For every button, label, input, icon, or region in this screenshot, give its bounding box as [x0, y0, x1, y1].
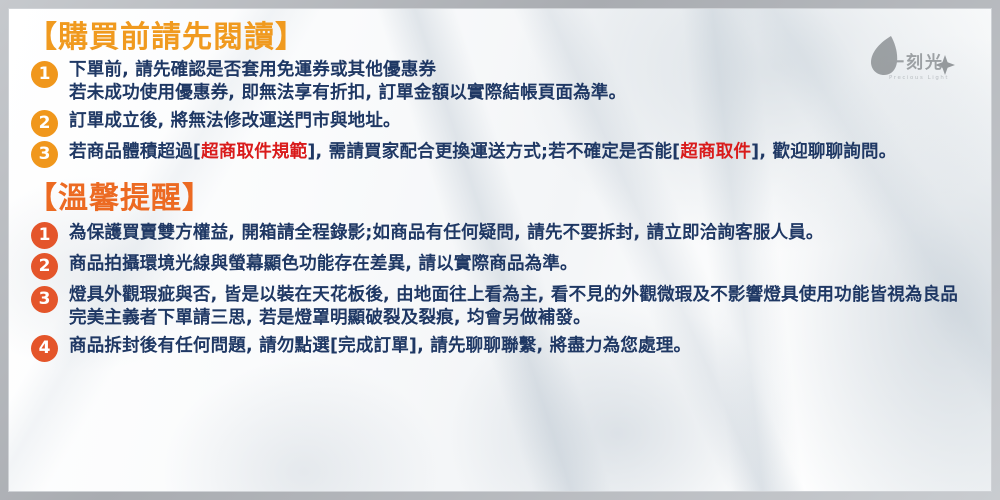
- item-number-badge: 2: [31, 110, 58, 137]
- brand-logo: 一刻光 Precious Light: [857, 29, 969, 91]
- text-segment: ], 需請買家配合更換運送方式;若不確定是否能[: [307, 142, 680, 162]
- list-item: 2商品拍攝環境光線與螢幕顯色功能存在差異, 請以實際商品為準。: [9, 253, 991, 280]
- text-segment: 完美主義者下單請三思, 若是燈罩明顯破裂及裂痕, 均會另做補發。: [69, 308, 591, 328]
- item-number-badge: 3: [31, 286, 58, 313]
- text-segment: 若未成功使用優惠券, 即無法享有折扣, 訂單金額以實際結帳頁面為準。: [69, 83, 626, 103]
- text-segment: ], 歡迎聊聊詢問。: [751, 142, 896, 162]
- list-item: 3燈具外觀瑕疵與否, 皆是以裝在天花板後, 由地面往上看為主, 看不見的外觀微瑕…: [9, 284, 991, 330]
- item-text-block: 商品拆封後有任何問題, 請勿點選[完成訂單], 請先聊聊聯繫, 將盡力為您處理。: [69, 335, 991, 358]
- item-text-block: 訂單成立後, 將無法修改運送門市與地址。: [69, 110, 991, 133]
- text-segment: 下單前, 請先確認是否套用免運券或其他優惠券: [69, 60, 436, 80]
- notice-content: 【購買前請先閱讀】1下單前, 請先確認是否套用免運券或其他優惠券若未成功使用優惠…: [9, 9, 991, 362]
- item-text-block: 商品拍攝環境光線與螢幕顯色功能存在差異, 請以實際商品為準。: [69, 253, 991, 276]
- list-item: 1下單前, 請先確認是否套用免運券或其他優惠券若未成功使用優惠券, 即無法享有折…: [9, 59, 991, 105]
- item-number-badge: 3: [31, 141, 58, 168]
- text-segment: 訂單成立後, 將無法修改運送門市與地址。: [69, 111, 401, 131]
- list-item: 3若商品體積超過[超商取件規範], 需請買家配合更換運送方式;若不確定是否能[超…: [9, 141, 991, 168]
- item-number-badge: 1: [31, 61, 58, 88]
- section-heading-before-purchase: 【購買前請先閱讀】: [27, 23, 991, 53]
- item-text-block: 燈具外觀瑕疵與否, 皆是以裝在天花板後, 由地面往上看為主, 看不見的外觀微瑕及…: [69, 284, 991, 330]
- highlighted-term: 超商取件: [680, 142, 751, 162]
- text-segment: 商品拆封後有任何問題, 請勿點選[完成訂單], 請先聊聊聯繫, 將盡力為您處理。: [69, 336, 691, 356]
- text-segment: 若商品體積超過[: [69, 142, 201, 162]
- item-text-line: 完美主義者下單請三思, 若是燈罩明顯破裂及裂痕, 均會另做補發。: [69, 307, 991, 330]
- image-frame: 一刻光 Precious Light 【購買前請先閱讀】1下單前, 請先確認是否…: [0, 0, 1000, 500]
- item-number-badge: 2: [31, 253, 58, 280]
- list-item: 2訂單成立後, 將無法修改運送門市與地址。: [9, 110, 991, 137]
- list-item: 1為保護買賣雙方權益, 開箱請全程錄影;如商品有任何疑問, 請先不要拆封, 請立…: [9, 222, 991, 249]
- item-text-line: 商品拍攝環境光線與螢幕顯色功能存在差異, 請以實際商品為準。: [69, 253, 991, 276]
- item-text-block: 為保護買賣雙方權益, 開箱請全程錄影;如商品有任何疑問, 請先不要拆封, 請立即…: [69, 222, 991, 245]
- item-text-line: 燈具外觀瑕疵與否, 皆是以裝在天花板後, 由地面往上看為主, 看不見的外觀微瑕及…: [69, 284, 991, 307]
- brand-name-zh: 一刻光: [887, 55, 944, 72]
- item-text-line: 為保護買賣雙方權益, 開箱請全程錄影;如商品有任何疑問, 請先不要拆封, 請立即…: [69, 222, 991, 245]
- highlighted-term: 超商取件規範: [201, 142, 307, 162]
- brand-name-en: Precious Light: [889, 76, 949, 81]
- item-text-line: 商品拆封後有任何問題, 請勿點選[完成訂單], 請先聊聊聯繫, 將盡力為您處理。: [69, 335, 991, 358]
- notice-canvas: 一刻光 Precious Light 【購買前請先閱讀】1下單前, 請先確認是否…: [8, 8, 992, 492]
- text-segment: 商品拍攝環境光線與螢幕顯色功能存在差異, 請以實際商品為準。: [69, 254, 578, 274]
- item-number-badge: 1: [31, 222, 58, 249]
- item-text-line: 下單前, 請先確認是否套用免運券或其他優惠券: [69, 59, 991, 82]
- text-segment: 燈具外觀瑕疵與否, 皆是以裝在天花板後, 由地面往上看為主, 看不見的外觀微瑕及…: [69, 285, 958, 305]
- item-text-block: 下單前, 請先確認是否套用免運券或其他優惠券若未成功使用優惠券, 即無法享有折扣…: [69, 59, 991, 105]
- item-text-line: 若未成功使用優惠券, 即無法享有折扣, 訂單金額以實際結帳頁面為準。: [69, 82, 991, 105]
- section-heading-warm-reminder: 【溫馨提醒】: [27, 184, 991, 214]
- text-segment: 為保護買賣雙方權益, 開箱請全程錄影;如商品有任何疑問, 請先不要拆封, 請立即…: [69, 223, 824, 243]
- item-text-block: 若商品體積超過[超商取件規範], 需請買家配合更換運送方式;若不確定是否能[超商…: [69, 141, 991, 164]
- item-text-line: 訂單成立後, 將無法修改運送門市與地址。: [69, 110, 991, 133]
- item-text-line: 若商品體積超過[超商取件規範], 需請買家配合更換運送方式;若不確定是否能[超商…: [69, 141, 991, 164]
- list-item: 4商品拆封後有任何問題, 請勿點選[完成訂單], 請先聊聊聯繫, 將盡力為您處理…: [9, 335, 991, 362]
- item-number-badge: 4: [31, 335, 58, 362]
